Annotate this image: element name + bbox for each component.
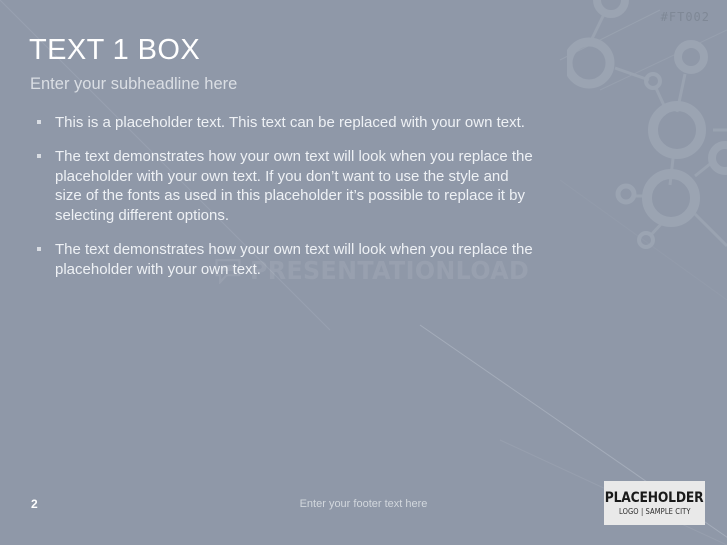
molecule-network-icon bbox=[567, 0, 727, 320]
slide-code-tag: #FT002 bbox=[661, 10, 710, 24]
logo-title: PLACEHOLDER bbox=[605, 491, 704, 506]
logo-placeholder-box: PLACEHOLDER LOGO | SAMPLE CITY bbox=[604, 481, 705, 525]
list-item: The text demonstrates how your own text … bbox=[33, 147, 535, 226]
slide-canvas: #FT002 PRESENTATIONLOAD TEXT 1 BOX Enter… bbox=[0, 0, 727, 545]
logo-subtitle: LOGO | SAMPLE CITY bbox=[619, 508, 691, 516]
list-item: This is a placeholder text. This text ca… bbox=[33, 113, 535, 133]
page-subtitle: Enter your subheadline here bbox=[30, 75, 237, 94]
body-bullet-list: This is a placeholder text. This text ca… bbox=[33, 113, 535, 294]
page-title: TEXT 1 BOX bbox=[29, 34, 200, 67]
list-item: The text demonstrates how your own text … bbox=[33, 240, 535, 280]
